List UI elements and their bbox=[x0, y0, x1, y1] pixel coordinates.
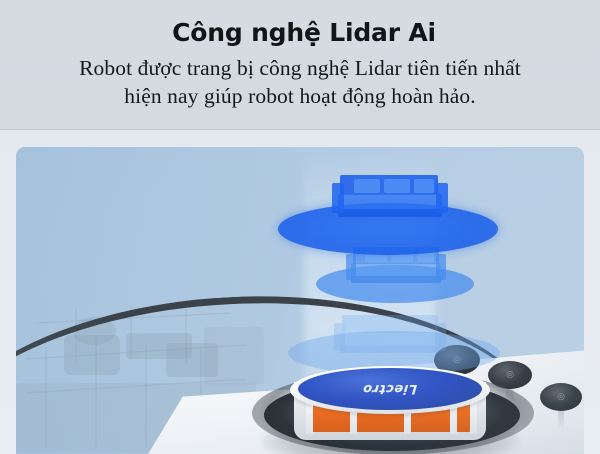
lidar-illustration-panel: ◎ ◎ ◎ bbox=[16, 147, 584, 454]
sofa-wireframe-lower bbox=[334, 315, 446, 359]
header-divider bbox=[0, 129, 600, 130]
sofa-wireframe-top bbox=[332, 175, 448, 223]
product-feature-page: Công nghệ Lidar Ai Robot được trang bị c… bbox=[0, 0, 600, 454]
page-title: Công nghệ Lidar Ai bbox=[40, 18, 560, 48]
robot-brand-text: Liectro bbox=[362, 382, 418, 397]
stool-glyph: ◎ bbox=[540, 383, 582, 411]
robot-brand-logo: Liectro bbox=[298, 368, 482, 410]
subtitle-line-2: hiện nay giúp robot hoạt động hoàn hảo. bbox=[40, 82, 560, 110]
subtitle-line-1: Robot được trang bị công nghệ Lidar tiên… bbox=[40, 54, 560, 82]
robot-vacuum: Liectro bbox=[284, 360, 496, 454]
stool-puck-3: ◎ bbox=[540, 383, 582, 411]
header-section: Công nghệ Lidar Ai Robot được trang bị c… bbox=[0, 0, 600, 130]
